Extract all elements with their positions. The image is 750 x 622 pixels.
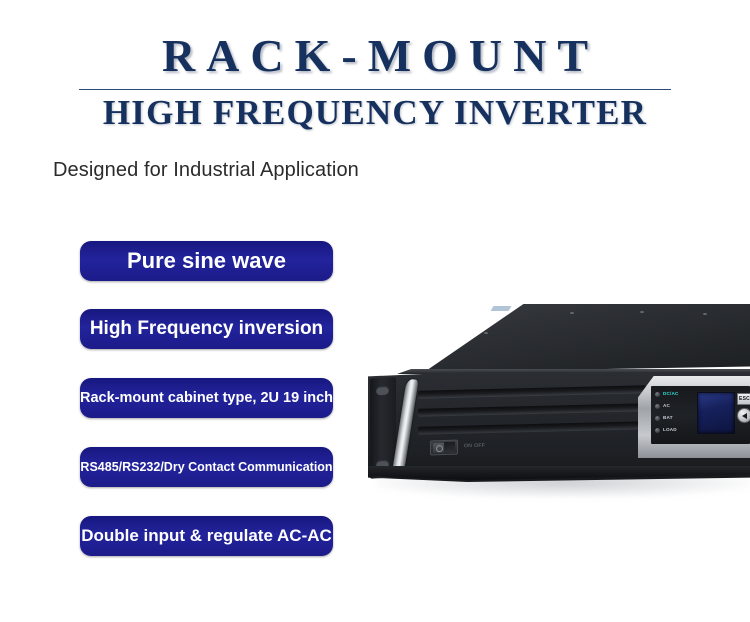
nav-left-button[interactable]: [737, 408, 750, 423]
led-dot-icon: [655, 416, 660, 421]
power-switch[interactable]: [430, 440, 458, 456]
led-label: BAT: [663, 415, 673, 421]
led-indicator-group: DC/AC AC BAT LOAD: [655, 389, 693, 441]
page-title: RACK-MOUNT: [0, 30, 750, 82]
led-label: DC/AC: [663, 391, 679, 397]
product-image: ON OFF DC/AC AC BAT LOAD ESC: [366, 300, 750, 510]
led-label: LOAD: [663, 427, 677, 433]
feature-badge-rack-mount-cabinet[interactable]: Rack-mount cabinet type, 2U 19 inch: [80, 378, 333, 418]
ventilation-grille: [418, 383, 646, 441]
feature-badge-double-input[interactable]: Double input & regulate AC-AC: [80, 516, 333, 556]
led-indicator-ac: AC: [655, 402, 670, 410]
power-switch-rocker: [444, 442, 455, 453]
vent-slot: [418, 385, 646, 398]
led-indicator-dc-ac: DC/AC: [655, 390, 679, 398]
chassis-top-highlight: [491, 306, 512, 311]
feature-badge-communication[interactable]: RS485/RS232/Dry Contact Communication: [80, 447, 333, 487]
feature-badge-pure-sine-wave[interactable]: Pure sine wave: [80, 241, 333, 281]
led-indicator-load: LOAD: [655, 426, 677, 434]
chassis-screw: [570, 312, 574, 314]
banner-heading: RACK-MOUNT HIGH FREQUENCY INVERTER: [0, 30, 750, 132]
led-dot-icon: [655, 404, 660, 409]
led-label: AC: [663, 403, 670, 409]
led-dot-icon: [655, 392, 660, 397]
chassis-screw: [484, 332, 488, 334]
chassis-screw: [703, 313, 707, 315]
led-dot-icon: [655, 428, 660, 433]
esc-button[interactable]: ESC: [737, 393, 750, 405]
lcd-display: [697, 392, 735, 434]
page-subtitle: HIGH FREQUENCY INVERTER: [0, 94, 750, 132]
title-divider: [79, 89, 671, 90]
rack-ear-mount-slot: [376, 386, 389, 396]
rack-ear-left: [370, 377, 396, 478]
vent-slot: [418, 421, 646, 434]
vent-slot: [418, 403, 646, 416]
feature-badge-list: Pure sine wave High Frequency inversion …: [80, 241, 333, 556]
chassis-handle[interactable]: [397, 379, 419, 477]
product-banner: RACK-MOUNT HIGH FREQUENCY INVERTER Desig…: [0, 0, 750, 622]
feature-badge-high-frequency-inversion[interactable]: High Frequency inversion: [80, 309, 333, 349]
led-indicator-bat: BAT: [655, 414, 673, 422]
arrow-left-icon: [742, 413, 747, 419]
power-icon: [433, 443, 444, 453]
chassis-top-surface: [396, 304, 750, 372]
power-switch-label: ON OFF: [464, 443, 485, 450]
chassis-screw: [640, 311, 644, 313]
tagline: Designed for Industrial Application: [53, 159, 359, 182]
